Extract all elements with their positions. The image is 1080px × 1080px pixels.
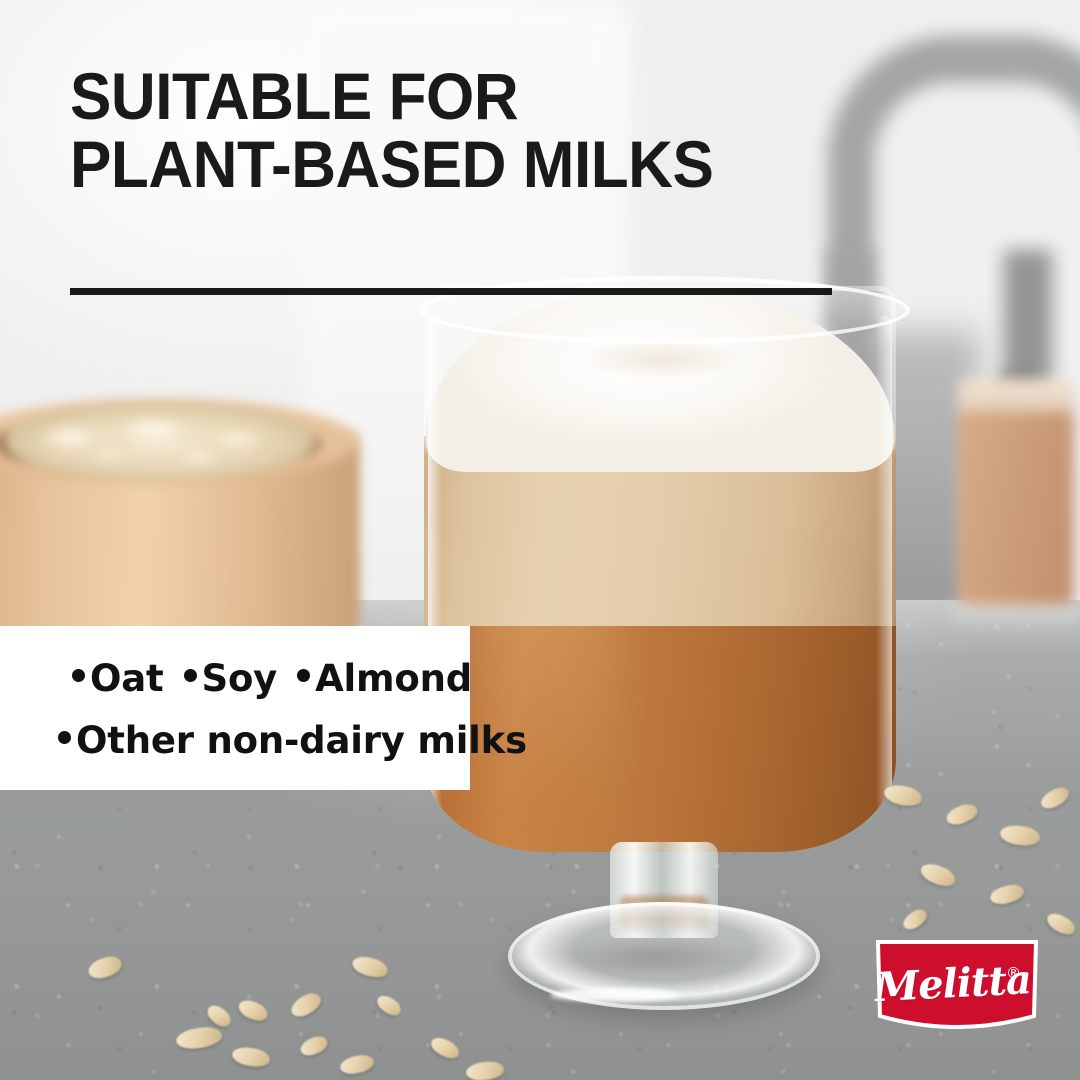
- bullet-item-oat: Oat: [72, 648, 164, 710]
- headline-line-1: SUITABLE FOR: [70, 62, 784, 130]
- bullet-row-secondary: Other non-dairy milks: [0, 710, 470, 772]
- bullet-item-other-milks: Other non-dairy milks: [58, 710, 527, 772]
- bullet-label-soy: Soy: [202, 648, 278, 710]
- bullet-label-other-milks: Other non-dairy milks: [76, 710, 527, 772]
- second-glass-liquid: [958, 384, 1074, 614]
- glass-right-highlight: [876, 316, 892, 816]
- bullet-label-almond: Almond: [315, 648, 472, 710]
- headline-block: SUITABLE FOR PLANT-BASED MILKS: [70, 62, 830, 198]
- bullet-label-oat: Oat: [90, 648, 164, 710]
- headline-line-2: PLANT-BASED MILKS: [70, 130, 784, 198]
- second-glass-foam: [958, 378, 1074, 412]
- second-coffee-glass: [952, 378, 1080, 626]
- oats-mound: [4, 400, 316, 482]
- bullet-dot-icon: [58, 731, 71, 744]
- bullet-dot-icon: [297, 669, 310, 682]
- bullet-item-almond: Almond: [297, 648, 472, 710]
- bullet-dot-icon: [184, 669, 197, 682]
- melitta-logo: Melitta ®: [876, 938, 1038, 1034]
- glass-foot-highlight: [550, 988, 680, 1002]
- bullet-panel: Oat Soy Almond Other non-dairy milks: [0, 626, 470, 790]
- bullet-row-primary: Oat Soy Almond: [0, 648, 470, 710]
- latte-glass: [424, 286, 896, 966]
- oat-bowl: [0, 392, 360, 642]
- registered-trademark-icon: ®: [1006, 964, 1021, 982]
- promo-image: SUITABLE FOR PLANT-BASED MILKS Oat Soy A…: [0, 0, 1080, 1080]
- bullet-dot-icon: [72, 669, 85, 682]
- bullet-item-soy: Soy: [184, 648, 278, 710]
- glass-rim: [420, 276, 910, 344]
- logo-wordmark: Melitta: [876, 938, 1038, 1034]
- second-glass-base: [952, 604, 1080, 626]
- headline-underline-rule: [70, 288, 832, 295]
